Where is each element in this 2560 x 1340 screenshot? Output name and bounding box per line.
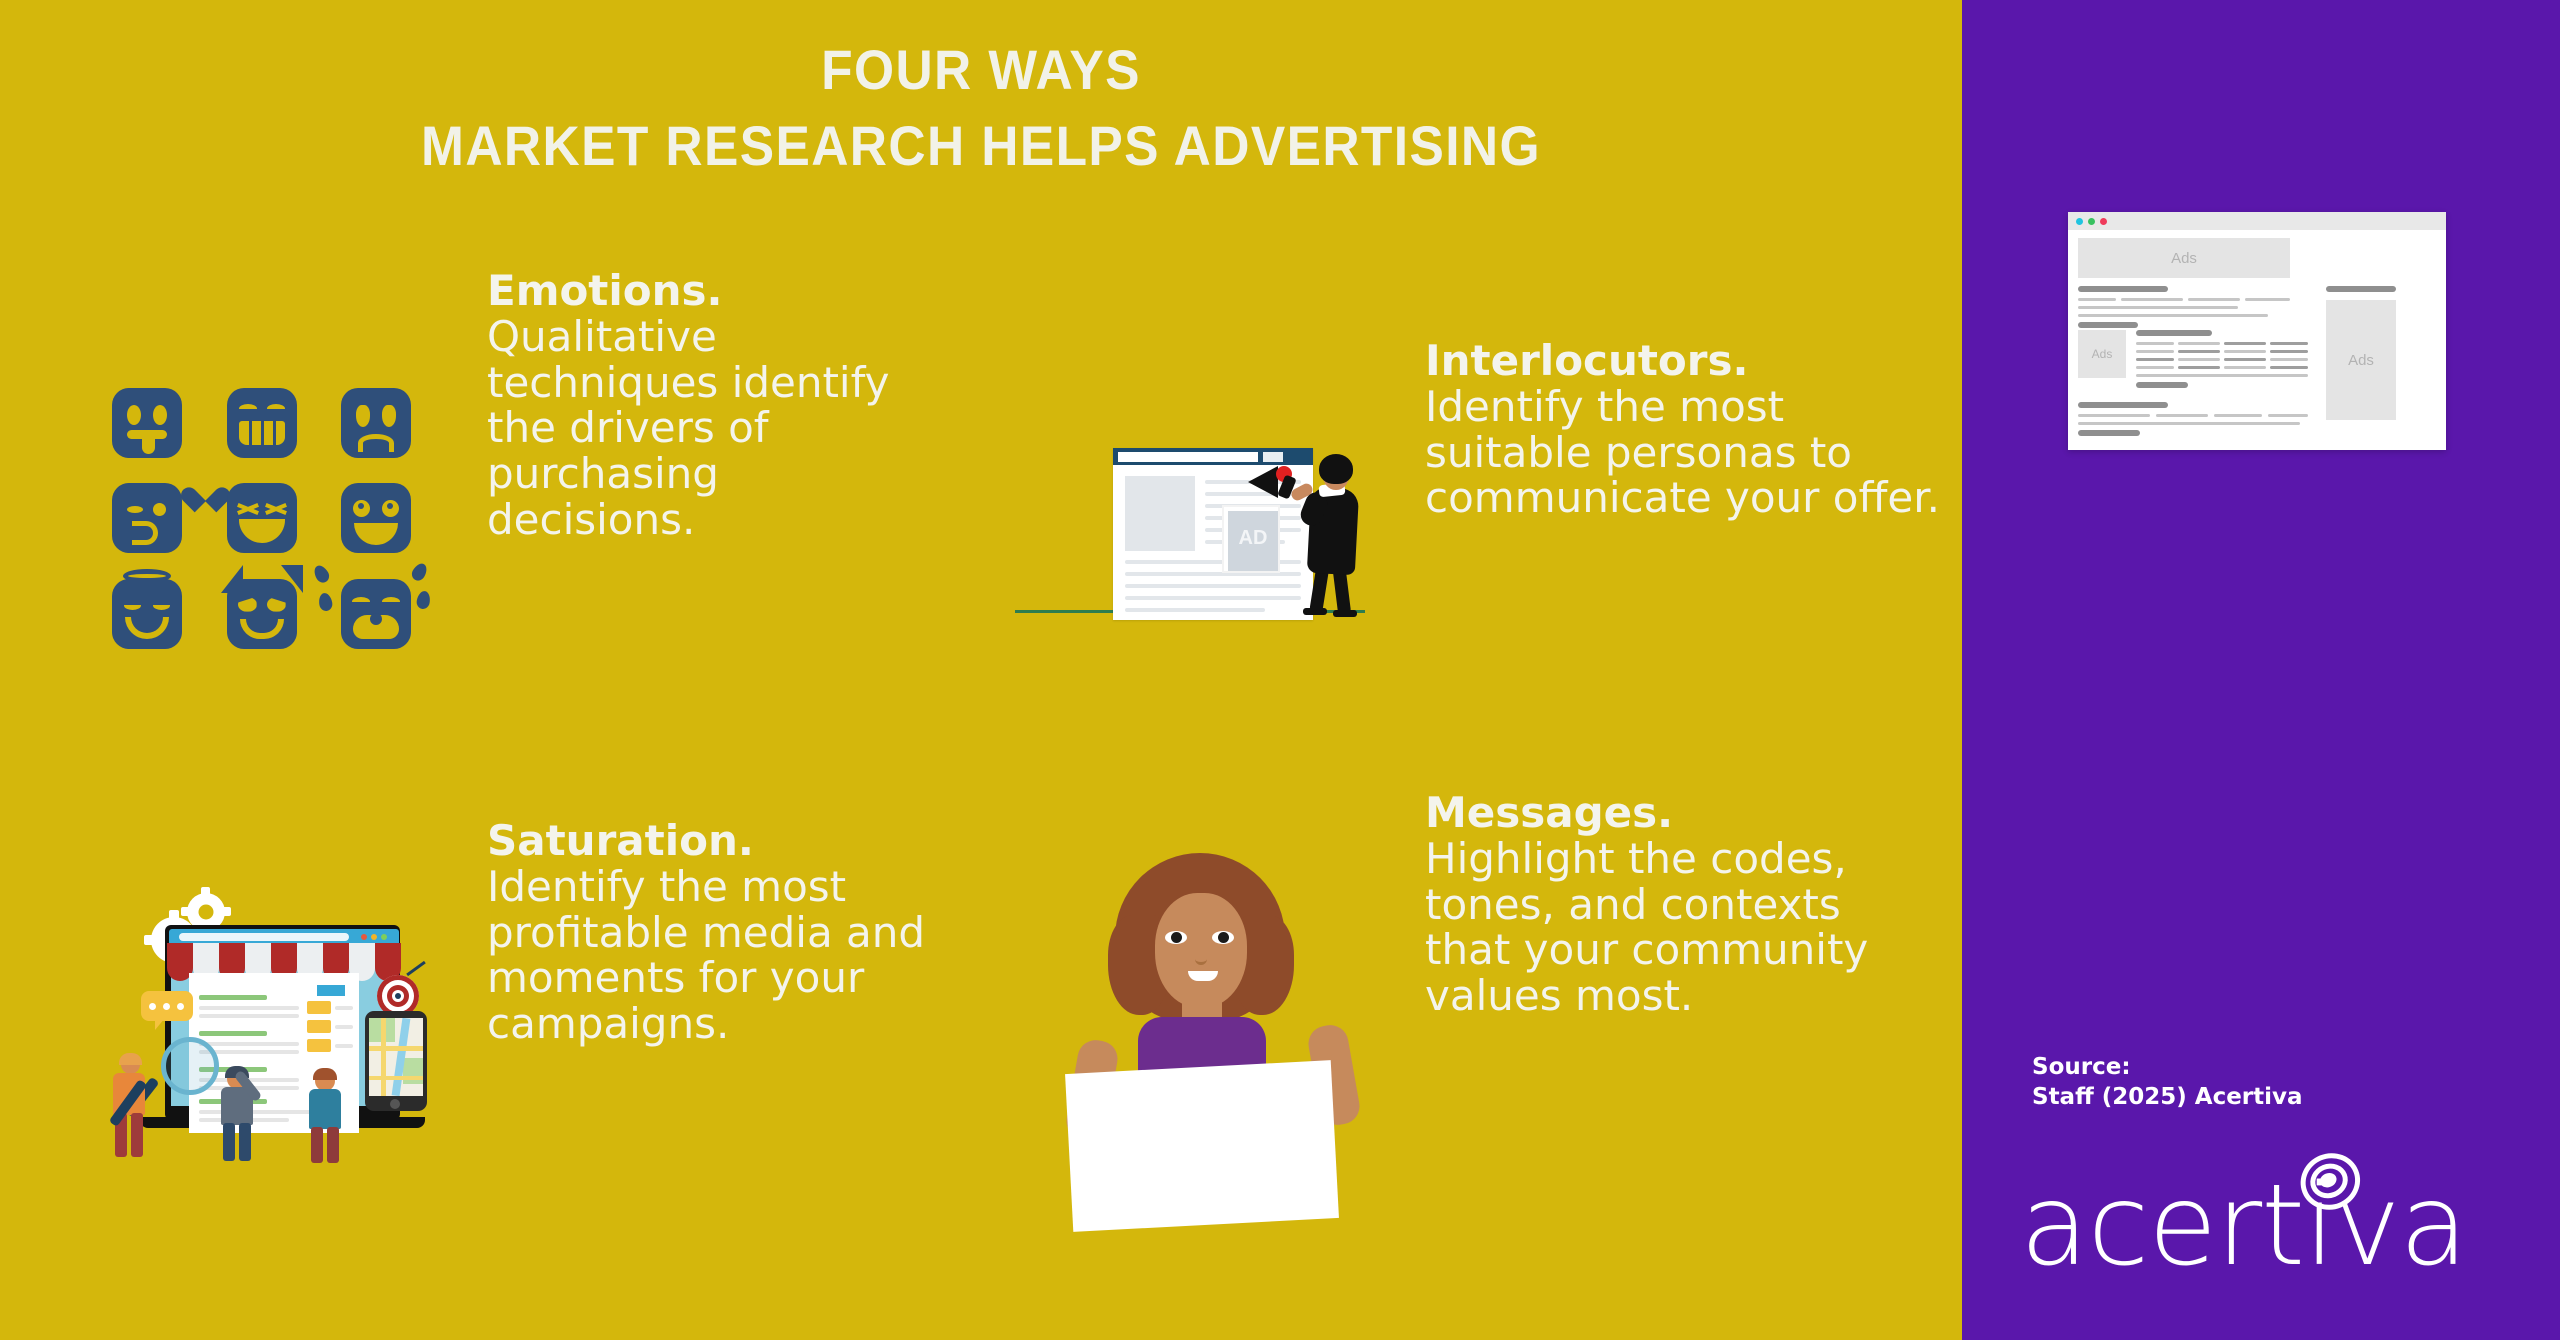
emoji-laughing-icon <box>227 483 297 553</box>
face-shape <box>1155 893 1247 1008</box>
emoji-crying-icon <box>341 579 411 649</box>
logo-wordmark: acertiva <box>2020 1170 2540 1282</box>
pupil-left <box>1171 932 1182 943</box>
pupil-right <box>1218 932 1229 943</box>
ad-slot-top: Ads <box>2078 238 2290 278</box>
browser-button <box>1263 452 1283 462</box>
blank-sign <box>1065 1060 1339 1232</box>
nose <box>1195 953 1207 965</box>
ad-placard-label: AD <box>1224 527 1282 550</box>
megaphone-woman-illustration: AD <box>1000 410 1400 630</box>
body-messages: Highlight the codes, tones, and contexts… <box>1425 836 1925 1019</box>
heading-interlocutors: Interlocutors. <box>1425 338 1945 384</box>
ad-placard: AD <box>1222 505 1280 573</box>
purple-sidebar-panel <box>1962 0 2560 1340</box>
person-figure-orange <box>105 1055 153 1160</box>
heading-messages: Messages. <box>1425 790 1925 836</box>
emoji-sad-icon <box>341 388 411 458</box>
emoji-tongue-out-icon <box>112 388 182 458</box>
traffic-light-blue-icon <box>2076 218 2083 225</box>
emoji-angel-icon <box>112 579 182 649</box>
source-credit: Source: Staff (2025) Acertiva <box>2032 1052 2412 1113</box>
source-label: Source: <box>2032 1052 2412 1082</box>
dart-icon <box>406 961 426 976</box>
storefront-laptop-illustration <box>105 885 460 1160</box>
ad-slot-right: Ads <box>2326 300 2396 420</box>
browser-mockup: Ads Ads Ads <box>2068 212 2446 450</box>
url-bar <box>1118 452 1258 462</box>
heading-emotions: Emotions. <box>487 268 917 314</box>
content-block-messages: Messages. Highlight the codes, tones, an… <box>1425 790 1925 1019</box>
woman-holding-sign-illustration <box>1060 845 1380 1245</box>
smartphone-map-icon <box>365 1011 427 1111</box>
traffic-light-green-icon <box>2088 218 2095 225</box>
mockup-titlebar <box>2068 212 2446 230</box>
page-image-placeholder <box>1125 476 1195 551</box>
emoji-devil-icon <box>227 579 297 649</box>
emoji-shocked-icon <box>341 483 411 553</box>
ad-slot-left: Ads <box>2078 330 2126 378</box>
content-block-emotions: Emotions. Qualitative techniques identif… <box>487 268 917 543</box>
emoji-grid-icon <box>112 388 424 660</box>
body-saturation: Identify the most profitable media and m… <box>487 864 987 1047</box>
chat-bubble-icon <box>141 991 193 1021</box>
person-figure-teal <box>301 1071 353 1161</box>
woman-figure <box>1295 454 1365 614</box>
body-interlocutors: Identify the most suitable personas to c… <box>1425 384 1945 521</box>
body-emotions: Qualitative techniques identify the driv… <box>487 314 917 543</box>
emoji-kiss-heart-icon <box>112 483 182 553</box>
acertiva-logo: acertiva <box>2020 1170 2540 1290</box>
traffic-light-red-icon <box>2100 218 2107 225</box>
emoji-grinning-icon <box>227 388 297 458</box>
magnifier-icon <box>161 1037 219 1095</box>
content-block-interlocutors: Interlocutors. Identify the most suitabl… <box>1425 338 1945 521</box>
heart-icon <box>190 477 220 505</box>
content-block-saturation: Saturation. Identify the most profitable… <box>487 818 987 1047</box>
person-figure-gray <box>213 1063 269 1161</box>
heading-saturation: Saturation. <box>487 818 987 864</box>
source-value: Staff (2025) Acertiva <box>2032 1082 2412 1112</box>
url-pill <box>179 933 349 941</box>
